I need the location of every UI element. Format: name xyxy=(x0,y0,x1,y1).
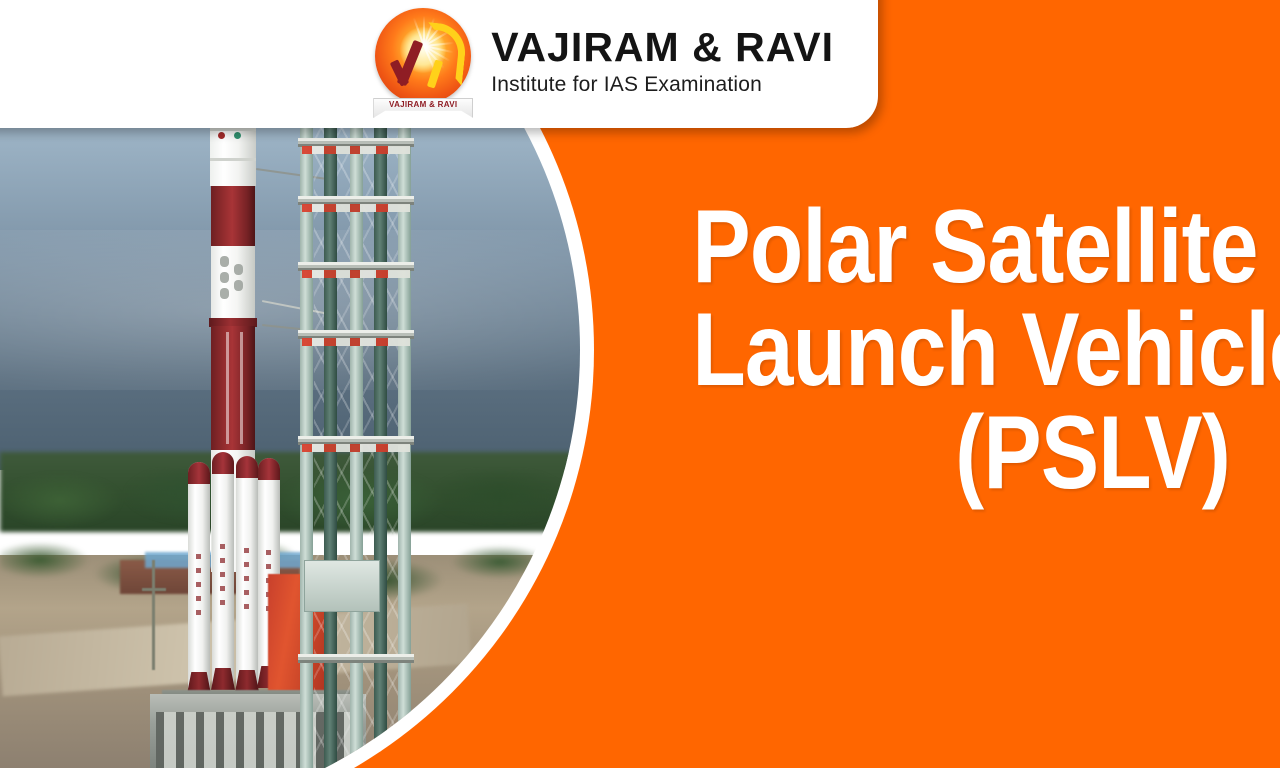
stage-cable-tray xyxy=(240,332,243,444)
stage-band-red xyxy=(211,186,255,246)
headline-line-3: (PSLV) xyxy=(692,402,1230,505)
fairing-seam xyxy=(210,128,256,131)
stage-vent xyxy=(220,256,229,267)
checkmark-icon xyxy=(393,42,445,96)
booster-nose xyxy=(258,458,280,480)
brand-logo-card: VAJIRAM & RAVI VAJIRAM & RAVI Institute … xyxy=(0,0,878,128)
fairing-decal xyxy=(218,132,225,139)
fairing-seam xyxy=(210,158,256,161)
stage-band-red xyxy=(211,326,255,450)
light-pole-arm xyxy=(142,588,166,591)
headline-line-1: Polar Satellite xyxy=(692,196,1230,299)
tower-equipment-box xyxy=(304,560,380,612)
booster-markings xyxy=(244,548,249,610)
stage-vent xyxy=(220,288,229,299)
stage-vent xyxy=(234,264,243,275)
pslv-rocket xyxy=(196,32,272,732)
booster-nozzle xyxy=(235,670,259,692)
brand-tagline: Institute for IAS Examination xyxy=(491,71,834,98)
strap-on-booster xyxy=(212,452,234,690)
sun-disc-icon xyxy=(375,8,471,104)
booster-nose xyxy=(236,456,258,478)
fairing-decal xyxy=(234,132,241,139)
platform-equipment xyxy=(302,146,410,154)
brand-name: VAJIRAM & RAVI xyxy=(491,26,834,69)
stage-band-white xyxy=(211,246,255,320)
stage-vent xyxy=(234,280,243,291)
stage-cable-tray xyxy=(226,332,229,444)
platform-equipment xyxy=(302,338,410,346)
promo-banner: Polar Satellite Launch Vehicle (PSLV) xyxy=(0,0,1280,768)
booster-nose xyxy=(188,462,210,484)
emblem-ribbon-label: VAJIRAM & RAVI xyxy=(389,99,457,111)
tower-platform xyxy=(298,654,414,663)
platform-equipment xyxy=(302,444,410,452)
headline-line-2: Launch Vehicle xyxy=(692,299,1230,402)
booster-nose xyxy=(212,452,234,474)
platform-equipment xyxy=(302,204,410,212)
strap-on-booster xyxy=(188,462,210,694)
strap-on-booster xyxy=(236,456,258,692)
emblem-ribbon: VAJIRAM & RAVI xyxy=(373,98,473,118)
booster-markings xyxy=(220,544,225,606)
vajiram-ravi-emblem-icon: VAJIRAM & RAVI xyxy=(371,6,475,118)
light-pole xyxy=(152,560,155,670)
stage-vent xyxy=(220,272,229,283)
platform-equipment xyxy=(302,270,410,278)
booster-markings xyxy=(196,554,201,616)
banner-headline: Polar Satellite Launch Vehicle (PSLV) xyxy=(692,196,1230,505)
booster-nozzle xyxy=(211,668,235,690)
